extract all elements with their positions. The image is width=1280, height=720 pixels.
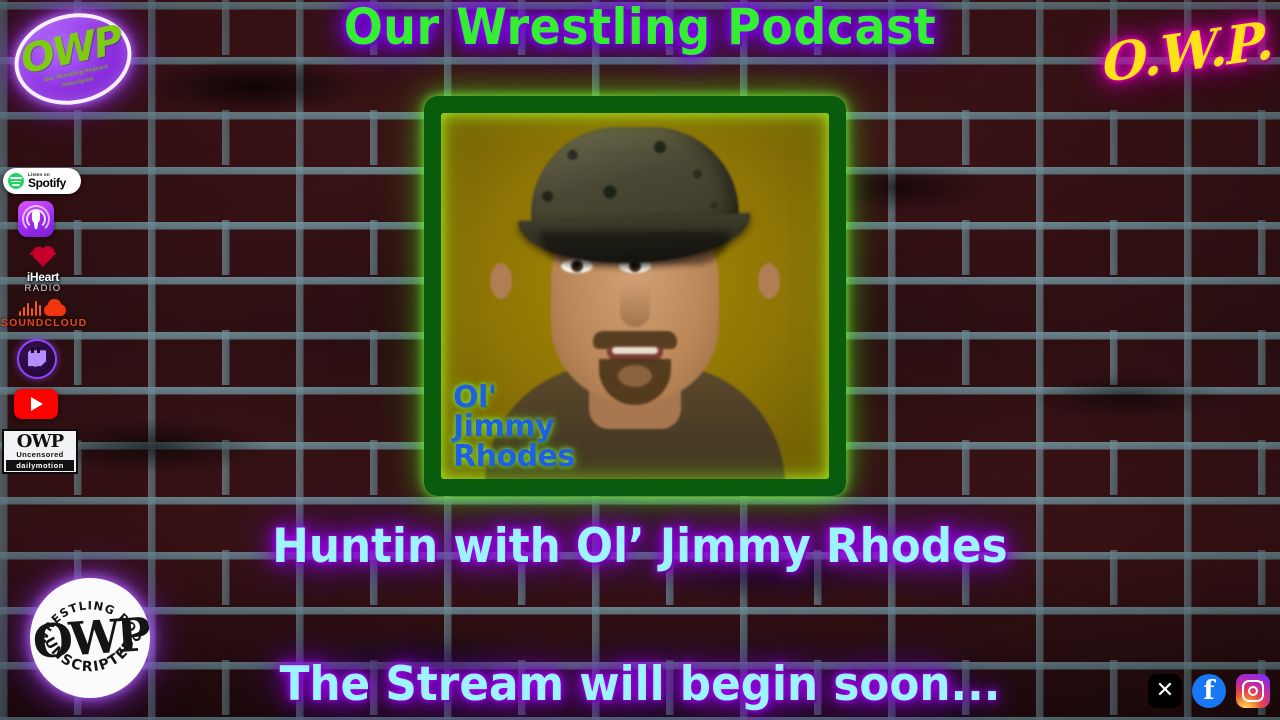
caption-line-1: Ol' [453,383,575,412]
platform-link-youtube[interactable] [0,379,58,419]
badge-center-text: OWP [31,611,148,665]
caption-line-3: Rhodes [453,442,575,471]
youtube-icon[interactable] [14,389,58,419]
iheartradio-icon [6,249,80,271]
platform-link-apple-podcasts[interactable] [0,194,54,237]
platform-link-spotify[interactable]: Listen on Spotify [0,168,81,194]
instagram-icon[interactable] [1236,674,1270,708]
episode-headline: Huntin with Ol’ Jimmy Rhodes [45,519,1235,574]
stream-standby-screen: Our Wrestling Podcast OWP Our Wrestling … [0,0,1280,720]
platform-link-dailymotion[interactable]: OWP Uncensored dailymotion [2,429,78,474]
x-twitter-icon[interactable]: ✕ [1148,674,1182,708]
twitch-icon[interactable] [17,339,57,379]
soundcloud-label: SOUNDCLOUD [1,317,83,329]
spotify-label: Spotify [28,177,66,189]
feature-image-caption: Ol' Jimmy Rhodes [453,383,575,471]
iheart-label-radio: RADIO [6,284,80,294]
platform-link-twitch[interactable] [0,329,57,379]
owp-graffiti-logo: O.W.P. [1102,14,1272,124]
dailymotion-uncensored-label: Uncensored [6,450,74,459]
iheart-label: iHeart [6,271,80,284]
owp-unscripted-badge: OUR WRESTLING PODCAST UNSCRIPTED OWP [30,578,150,698]
stream-status-text: The Stream will begin soon... [45,657,1235,712]
feature-image: Ol' Jimmy Rhodes [441,113,829,479]
platform-link-iheartradio[interactable]: iHeart RADIO [6,249,80,294]
page-title: Our Wrestling Podcast [51,0,1229,56]
platform-links-rail: Listen on Spotify iHeart RADIO [0,168,88,474]
platform-link-soundcloud[interactable]: SOUNDCLOUD [1,300,83,329]
x-twitter-glyph: ✕ [1156,678,1174,703]
caption-line-2: Jimmy [453,412,575,441]
graffiti-logo-text: O.W.P. [1102,10,1272,95]
apple-podcasts-icon[interactable] [18,201,54,237]
spotify-icon [8,173,24,189]
feature-image-frame: Ol' Jimmy Rhodes [424,96,846,496]
spotify-badge[interactable]: Listen on Spotify [3,168,81,194]
facebook-icon[interactable]: f [1192,674,1226,708]
soundcloud-icon [1,300,83,316]
facebook-glyph: f [1203,678,1214,704]
social-links: ✕ f [1148,674,1270,708]
dailymotion-owp-label: OWP [6,433,74,450]
dailymotion-label: dailymotion [6,460,74,471]
